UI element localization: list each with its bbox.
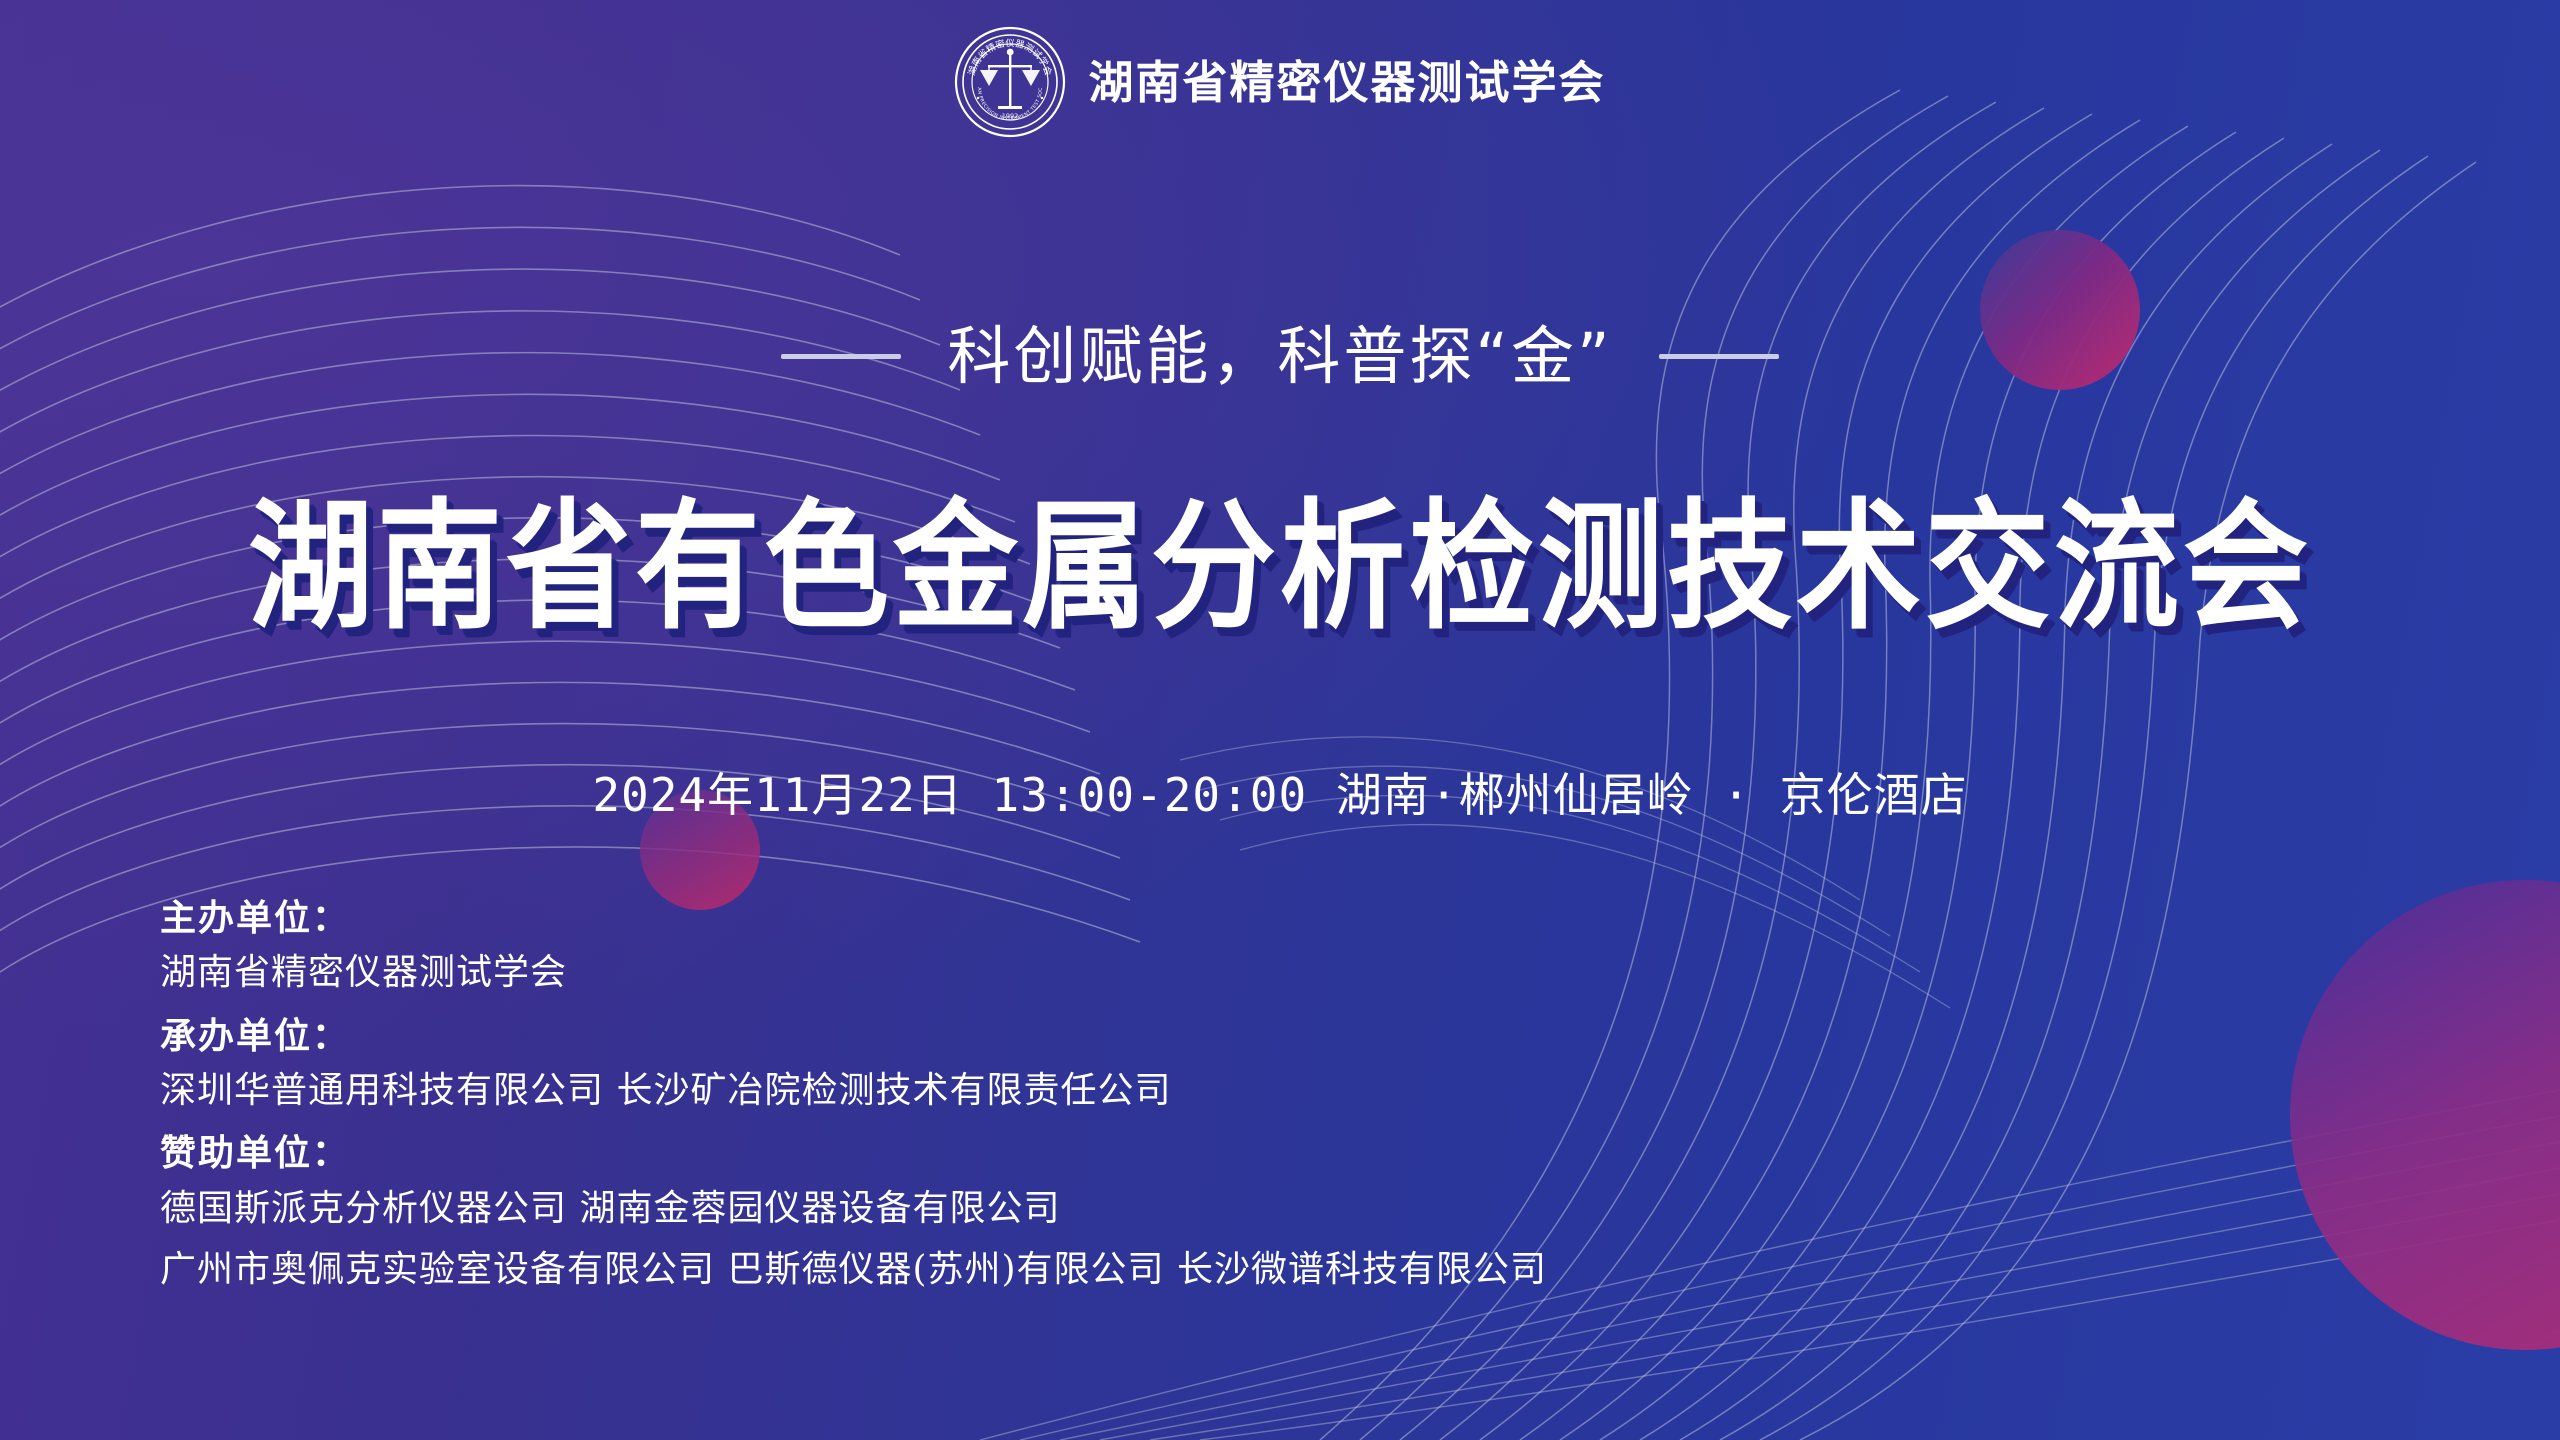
sponsor-label: 赞助单位： <box>160 1133 1860 1173</box>
host-label: 主办单位： <box>160 898 1860 938</box>
host-value: 湖南省精密仪器测试学会 <box>160 952 1860 993</box>
accent-circle-large <box>2290 880 2560 1350</box>
conference-banner: 湖南省精密仪器测试学会 HUNAN PRECISION INSTRUMENT T… <box>0 0 2560 1440</box>
subtitle-dash-right-icon <box>1659 354 1779 359</box>
svg-text:1992: 1992 <box>1002 112 1019 120</box>
society-seal-icon: 湖南省精密仪器测试学会 HUNAN PRECISION INSTRUMENT T… <box>954 26 1066 138</box>
organization-name: 湖南省精密仪器测试学会 <box>1088 60 1605 105</box>
logo-row: 湖南省精密仪器测试学会 HUNAN PRECISION INSTRUMENT T… <box>0 26 2560 138</box>
subtitle-dash-left-icon <box>781 354 901 359</box>
subtitle-text: 科创赋能，科普探“金” <box>947 325 1612 388</box>
organizer-value: 深圳华普通用科技有限公司 长沙矿冶院检测技术有限责任公司 <box>160 1070 1860 1111</box>
subtitle-row: 科创赋能，科普探“金” <box>0 325 2560 388</box>
headline-wrap: 湖南省有色金属分析检测技术交流会 <box>0 492 2560 627</box>
sponsor-value-2: 广州市奥佩克实验室设备有限公司 巴斯德仪器(苏州)有限公司 长沙微谱科技有限公司 <box>160 1249 1860 1290</box>
organizer-label: 承办单位： <box>160 1016 1860 1056</box>
event-headline: 湖南省有色金属分析检测技术交流会 <box>248 492 2312 643</box>
date-venue-text: 2024年11月22日 13:00-20:00 湖南·郴州仙居岭 · 京伦酒店 <box>592 772 1967 818</box>
sponsor-value-1: 德国斯派克分析仪器公司 湖南金蓉园仪器设备有限公司 <box>160 1188 1860 1229</box>
credits-block: 主办单位： 湖南省精密仪器测试学会 承办单位： 深圳华普通用科技有限公司 长沙矿… <box>160 898 1860 1313</box>
meta-row: 2024年11月22日 13:00-20:00 湖南·郴州仙居岭 · 京伦酒店 <box>0 772 2560 818</box>
